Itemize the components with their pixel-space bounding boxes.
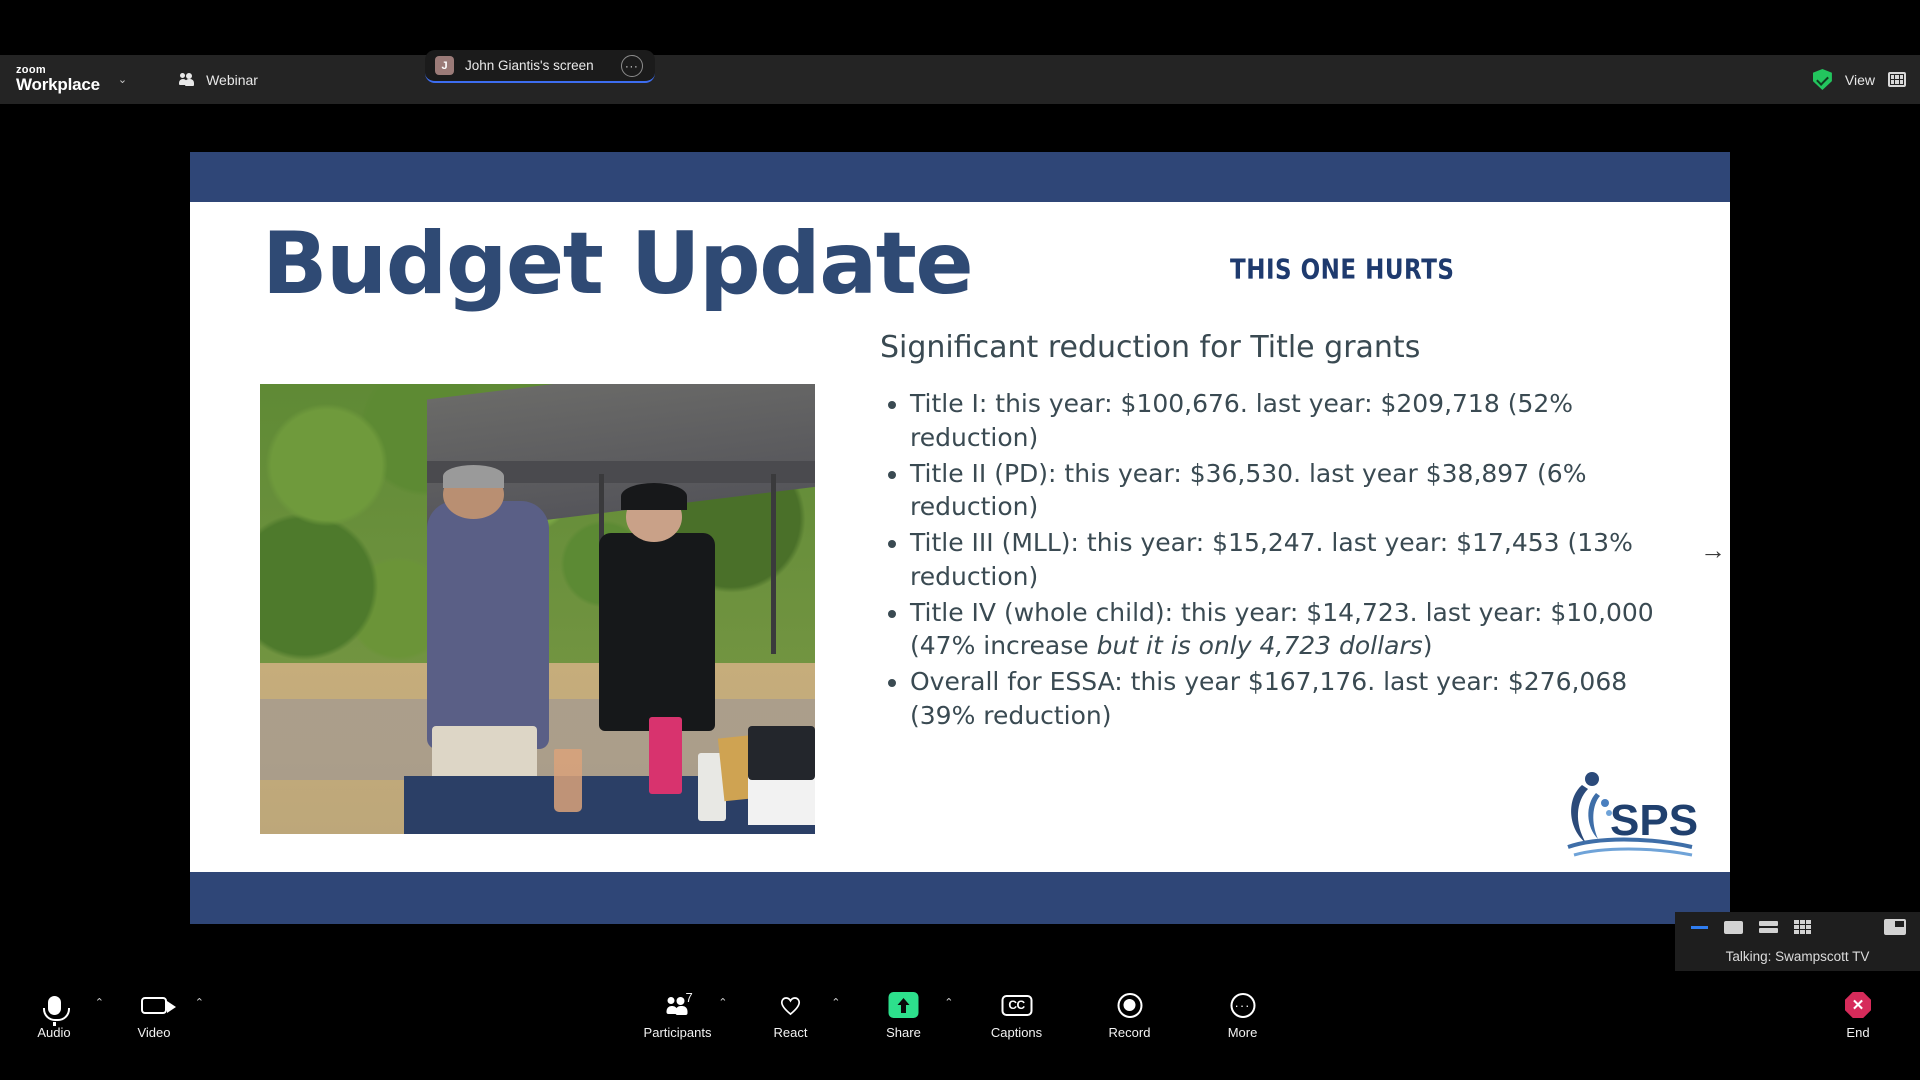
- share-chevron-up-icon[interactable]: ⌃: [944, 996, 953, 1009]
- camera-icon: [141, 990, 167, 1020]
- captions-button[interactable]: CC Captions: [985, 990, 1049, 1040]
- record-icon: [1117, 990, 1142, 1020]
- grid-view-icon[interactable]: [1888, 72, 1906, 87]
- participants-label: Participants: [644, 1025, 712, 1040]
- share-label: Share: [886, 1025, 921, 1040]
- toolbar-left-group: Audio ⌃ Video ⌃: [22, 990, 186, 1040]
- slide-bottom-band: [190, 872, 1730, 924]
- more-label: More: [1228, 1025, 1258, 1040]
- react-label: React: [774, 1025, 808, 1040]
- end-button[interactable]: ✕ End: [1826, 990, 1890, 1040]
- participants-count: 7: [686, 990, 693, 1005]
- react-chevron-up-icon[interactable]: ⌃: [831, 996, 840, 1009]
- audio-label: Audio: [37, 1025, 70, 1040]
- slide-photo: [260, 384, 815, 834]
- talking-indicator: Talking: Swampscott TV: [1675, 942, 1920, 971]
- speaker-view-icon[interactable]: [1724, 921, 1743, 934]
- video-label: Video: [137, 1025, 170, 1040]
- webinar-label: Webinar: [206, 72, 258, 88]
- more-button[interactable]: ··· More: [1211, 990, 1275, 1040]
- layout-controls-bar: [1675, 912, 1920, 942]
- list-item: Title II (PD): this year: $36,530. last …: [910, 457, 1690, 525]
- brand-line-workplace: Workplace: [16, 76, 100, 93]
- next-slide-arrow-icon[interactable]: →: [1700, 537, 1726, 563]
- more-options-icon[interactable]: ···: [621, 55, 643, 77]
- closed-captions-icon: CC: [1001, 990, 1032, 1020]
- chevron-down-icon[interactable]: ⌄: [118, 73, 127, 86]
- top-black-strip: [0, 0, 1920, 55]
- talking-label: Talking: Swampscott TV: [1726, 949, 1870, 964]
- share-button[interactable]: Share ⌃: [872, 990, 936, 1040]
- header-right-controls: View: [1813, 55, 1906, 104]
- slide-content: Budget Update THIS ONE HURTS: [190, 202, 1730, 872]
- audio-chevron-up-icon[interactable]: ⌃: [95, 996, 104, 1009]
- shared-screen-tab[interactable]: J John Giantis's screen ···: [425, 50, 655, 83]
- picture-in-picture-icon[interactable]: [1884, 919, 1906, 935]
- captions-label: Captions: [991, 1025, 1042, 1040]
- participants-chevron-up-icon[interactable]: ⌃: [718, 996, 727, 1009]
- audio-button[interactable]: Audio ⌃: [22, 990, 86, 1040]
- strip-view-icon[interactable]: [1759, 921, 1778, 934]
- microphone-icon: [48, 990, 61, 1020]
- more-dots-icon: ···: [1230, 990, 1255, 1020]
- minimize-icon[interactable]: [1691, 926, 1708, 929]
- end-call-icon: ✕: [1845, 990, 1871, 1020]
- react-button[interactable]: React ⌃: [759, 990, 823, 1040]
- slide-subtitle: Significant reduction for Title grants: [880, 330, 1420, 365]
- end-label: End: [1846, 1025, 1869, 1040]
- share-screen-icon: [889, 990, 919, 1020]
- list-item: Title III (MLL): this year: $15,247. las…: [910, 526, 1690, 594]
- toolbar-center-group: 7 Participants ⌃ React ⌃ Share ⌃: [646, 990, 1275, 1040]
- video-chevron-up-icon[interactable]: ⌃: [195, 996, 204, 1009]
- meeting-toolbar: Audio ⌃ Video ⌃ 7 Participants ⌃ React ⌃: [0, 972, 1920, 1080]
- toolbar-right-group: ✕ End: [1826, 990, 1890, 1040]
- gallery-grid-view-icon[interactable]: [1794, 920, 1811, 934]
- view-label[interactable]: View: [1845, 72, 1875, 88]
- shield-icon[interactable]: [1813, 69, 1832, 90]
- record-button[interactable]: Record: [1098, 990, 1162, 1040]
- slide-bullet-list: Title I: this year: $100,676. last year:…: [910, 387, 1690, 735]
- list-item: Title I: this year: $100,676. last year:…: [910, 387, 1690, 455]
- people-icon: [179, 73, 197, 87]
- shared-screen-label: John Giantis's screen: [465, 58, 594, 73]
- list-item: Overall for ESSA: this year $167,176. la…: [910, 665, 1690, 733]
- shared-slide: Budget Update THIS ONE HURTS: [190, 152, 1730, 924]
- slide-title: Budget Update: [262, 214, 972, 314]
- record-label: Record: [1109, 1025, 1151, 1040]
- heart-icon: [779, 990, 803, 1020]
- slide-top-band: [190, 152, 1730, 202]
- participants-button[interactable]: 7 Participants ⌃: [646, 990, 710, 1040]
- avatar: J: [435, 56, 454, 75]
- list-item: Title IV (whole child): this year: $14,7…: [910, 596, 1690, 664]
- webinar-indicator[interactable]: Webinar: [179, 72, 258, 88]
- sps-logo: SPS: [1552, 763, 1702, 858]
- slide-badge: THIS ONE HURTS: [1230, 255, 1454, 286]
- zoom-workplace-logo: zoom Workplace: [16, 65, 100, 94]
- zoom-header-bar: zoom Workplace ⌄ Webinar: [0, 55, 1920, 104]
- video-button[interactable]: Video ⌃: [122, 990, 186, 1040]
